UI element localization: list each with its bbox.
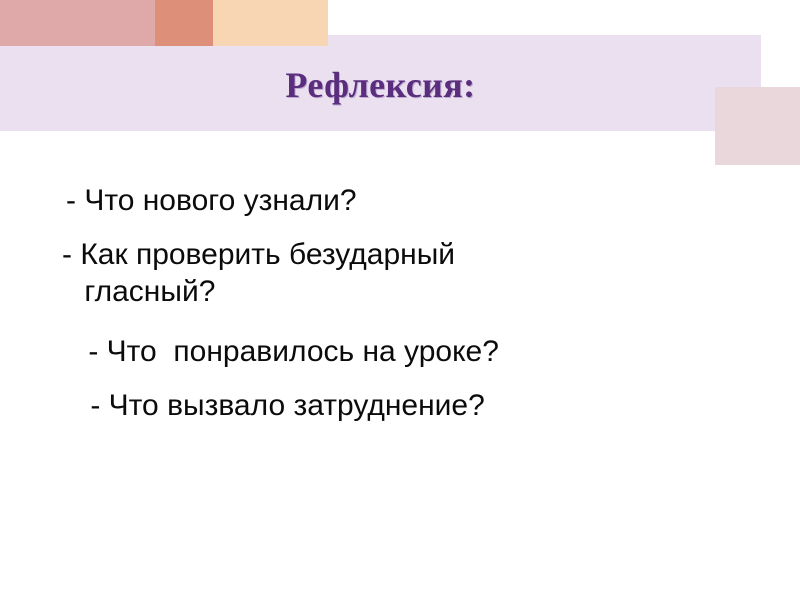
list-item: - Что вызвало затруднение? <box>0 387 800 424</box>
list-item-continuation: гласный? <box>0 273 800 310</box>
list-item: - Что нового узнали? <box>0 182 800 219</box>
list-item: - Что понравилось на уроке? <box>0 333 800 370</box>
slide-canvas: Рефлексия: - Что нового узнали? - Как пр… <box>0 0 800 600</box>
reflection-question-list: - Что нового узнали? - Как проверить без… <box>0 182 800 424</box>
decor-block-peach <box>213 0 328 46</box>
slide-title: Рефлексия: <box>0 64 761 106</box>
list-item: - Как проверить безударный <box>0 236 800 273</box>
decor-block-pink <box>0 0 155 46</box>
decor-block-salmon <box>155 0 213 46</box>
